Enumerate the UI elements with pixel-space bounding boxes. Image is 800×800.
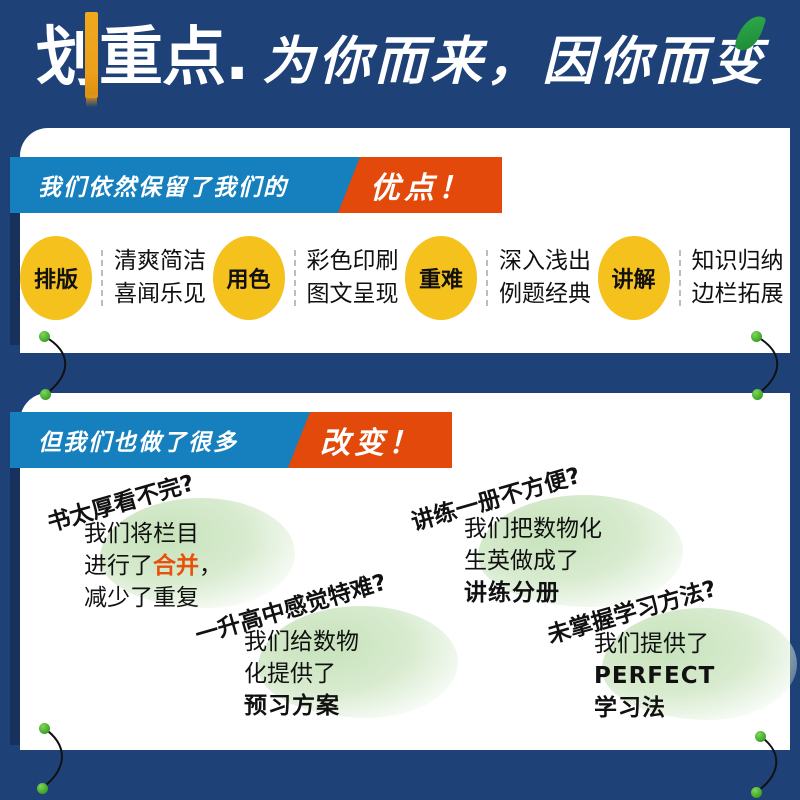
pin-icon <box>751 331 762 342</box>
change-line-highlight: PERFECT <box>594 664 715 689</box>
feature-badge: 讲解 <box>598 236 670 320</box>
feature-line: 例题经典 <box>499 283 591 306</box>
feature-item: 讲解 知识归纳 边栏拓展 <box>598 236 791 320</box>
feature-badge: 用色 <box>213 236 285 320</box>
feature-row: 排版 清爽简洁 喜闻乐见 用色 彩色印刷 图文呈现 重难 深入浅出 例题经典 讲… <box>20 228 790 328</box>
feature-lines: 清爽简洁 喜闻乐见 <box>101 250 206 306</box>
change-line-post: ， <box>199 553 222 579</box>
header-banner: 划重点. 为你而来，因你而变 <box>0 0 800 128</box>
change-line-highlight: 学习法 <box>594 696 715 721</box>
feature-line: 深入浅出 <box>499 250 591 273</box>
change-line: 我们给数物 <box>244 630 359 655</box>
brush-stroke-icon <box>85 12 98 98</box>
change-block: 未掌握学习方法? 我们提供了 PERFECT 学习法 <box>552 580 800 720</box>
feature-line: 彩色印刷 <box>307 250 399 273</box>
pin-icon <box>751 787 762 798</box>
page-subtitle: 为你而来，因你而变 <box>262 36 766 88</box>
pin-icon <box>40 389 51 400</box>
change-line: 生英做成了 <box>464 549 602 574</box>
change-line: 化提供了 <box>244 662 359 687</box>
feature-lines: 深入浅出 例题经典 <box>486 250 591 306</box>
feature-line: 图文呈现 <box>307 283 399 306</box>
feature-lines: 彩色印刷 图文呈现 <box>294 250 399 306</box>
change-body: 我们给数物 化提供了 预习方案 <box>244 630 359 718</box>
title-row: 划重点. 为你而来，因你而变 <box>36 26 766 90</box>
change-line-pre: 进行了 <box>84 553 153 579</box>
pin-icon <box>755 731 766 742</box>
change-line: 进行了合并， <box>84 554 222 579</box>
banner-keep: 我们依然保留了我们的 优点！ <box>10 157 502 213</box>
change-line: 我们提供了 <box>594 632 715 657</box>
feature-line: 喜闻乐见 <box>114 283 206 306</box>
feature-line: 边栏拓展 <box>692 283 784 306</box>
change-line-highlight: 合并 <box>153 553 199 579</box>
banner-keep-blue-text: 我们依然保留了我们的 <box>10 157 322 213</box>
pin-icon <box>39 331 50 342</box>
pin-icon <box>37 783 48 794</box>
feature-item: 用色 彩色印刷 图文呈现 <box>213 236 406 320</box>
feature-badge: 重难 <box>405 236 477 320</box>
feature-item: 重难 深入浅出 例题经典 <box>405 236 598 320</box>
page-title: 划重点. <box>36 26 248 90</box>
feature-lines: 知识归纳 边栏拓展 <box>679 250 784 306</box>
pin-icon <box>39 723 50 734</box>
change-line: 我们把数物化 <box>464 517 602 542</box>
feature-line: 清爽简洁 <box>114 250 206 273</box>
feature-badge: 排版 <box>20 236 92 320</box>
change-body: 我们提供了 PERFECT 学习法 <box>594 632 715 720</box>
change-line-highlight: 预习方案 <box>244 694 359 719</box>
banner-change-blue-text: 但我们也做了很多 <box>10 412 272 468</box>
change-line: 我们将栏目 <box>84 522 222 547</box>
feature-item: 排版 清爽简洁 喜闻乐见 <box>20 236 213 320</box>
banner-change: 但我们也做了很多 改变！ <box>10 412 452 468</box>
feature-line: 知识归纳 <box>692 250 784 273</box>
pin-icon <box>752 389 763 400</box>
